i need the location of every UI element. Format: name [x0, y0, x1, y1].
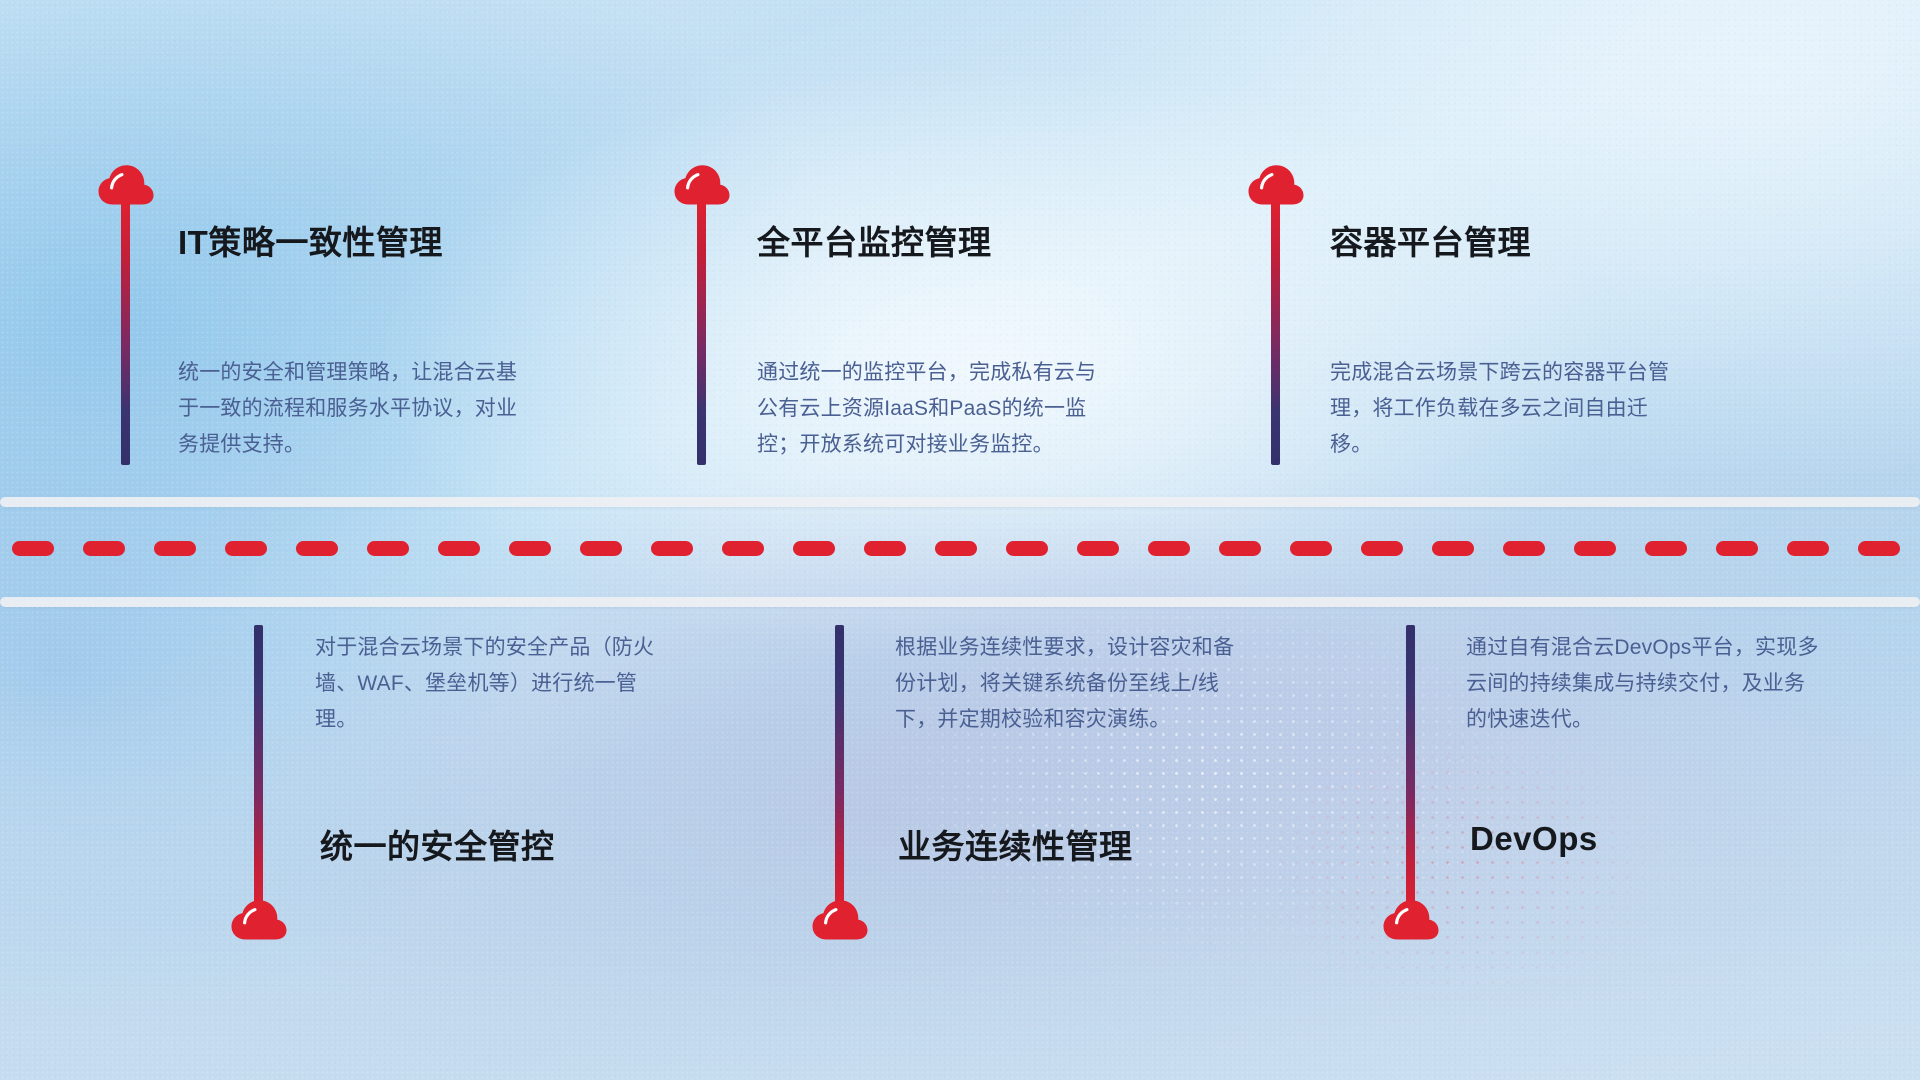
- divider-dash: [1432, 541, 1474, 556]
- divider-dash: [509, 541, 551, 556]
- divider-dash: [793, 541, 835, 556]
- cloud-pin-3[interactable]: [1246, 163, 1306, 205]
- divider-dash: [722, 541, 764, 556]
- divider-dash: [935, 541, 977, 556]
- card-title-4: 统一的安全管控: [320, 820, 555, 868]
- divider-dash: [225, 541, 267, 556]
- card-body-6: 通过自有混合云DevOps平台，实现多云间的持续集成与持续交付，及业务的快速迭代…: [1466, 630, 1826, 738]
- stem-connector-2: [697, 200, 706, 465]
- divider-dash: [1290, 541, 1332, 556]
- card-body-5: 根据业务连续性要求，设计容灾和备份计划，将关键系统备份至线上/线下，并定期校验和…: [895, 630, 1255, 738]
- card-body-1: 统一的安全和管理策略，让混合云基于一致的流程和服务水平协议，对业务提供支持。: [178, 355, 538, 463]
- divider-dash: [1006, 541, 1048, 556]
- stem-connector-3: [1271, 200, 1280, 465]
- divider-rail-top: [0, 497, 1920, 507]
- divider-dash: [580, 541, 622, 556]
- divider-dash: [1503, 541, 1545, 556]
- divider-rail-bottom: [0, 597, 1920, 607]
- divider-dashes: [0, 540, 1920, 556]
- card-title-3: 容器平台管理: [1330, 216, 1531, 264]
- divider-dash: [1787, 541, 1829, 556]
- divider-dash: [651, 541, 693, 556]
- card-body-4: 对于混合云场景下的安全产品（防火墙、WAF、堡垒机等）进行统一管理。: [315, 630, 675, 738]
- divider-dash: [1361, 541, 1403, 556]
- stem-connector-4: [254, 625, 263, 915]
- divider-dash: [1148, 541, 1190, 556]
- divider-dash: [1574, 541, 1616, 556]
- cloud-icon: [1381, 898, 1441, 940]
- divider-dash: [438, 541, 480, 556]
- stem-connector-5: [835, 625, 844, 915]
- divider-dash: [154, 541, 196, 556]
- cloud-pin-6[interactable]: [1381, 898, 1441, 940]
- divider-dash: [296, 541, 338, 556]
- divider-dash: [83, 541, 125, 556]
- divider-dash: [1077, 541, 1119, 556]
- cloud-icon: [96, 163, 156, 205]
- divider-dash: [1645, 541, 1687, 556]
- card-title-6: DevOps: [1470, 820, 1598, 858]
- divider-dash: [1858, 541, 1900, 556]
- divider-dash: [367, 541, 409, 556]
- stem-connector-6: [1406, 625, 1415, 915]
- cloud-icon: [810, 898, 870, 940]
- divider-dash: [12, 541, 54, 556]
- cloud-pin-2[interactable]: [672, 163, 732, 205]
- cloud-pin-5[interactable]: [810, 898, 870, 940]
- card-body-2: 通过统一的监控平台，完成私有云与公有云上资源IaaS和PaaS的统一监控；开放系…: [757, 355, 1117, 463]
- stem-connector-1: [121, 200, 130, 465]
- divider-dash: [864, 541, 906, 556]
- cloud-icon: [672, 163, 732, 205]
- infographic-canvas: IT策略一致性管理 统一的安全和管理策略，让混合云基于一致的流程和服务水平协议，…: [0, 0, 1920, 1080]
- cloud-icon: [1246, 163, 1306, 205]
- card-title-2: 全平台监控管理: [757, 216, 992, 264]
- cloud-icon: [229, 898, 289, 940]
- divider-dash: [1716, 541, 1758, 556]
- card-body-3: 完成混合云场景下跨云的容器平台管理，将工作负载在多云之间自由迁移。: [1330, 355, 1690, 463]
- divider-dash: [1219, 541, 1261, 556]
- card-title-5: 业务连续性管理: [898, 820, 1133, 868]
- card-title-1: IT策略一致性管理: [178, 216, 443, 264]
- cloud-pin-1[interactable]: [96, 163, 156, 205]
- cloud-pin-4[interactable]: [229, 898, 289, 940]
